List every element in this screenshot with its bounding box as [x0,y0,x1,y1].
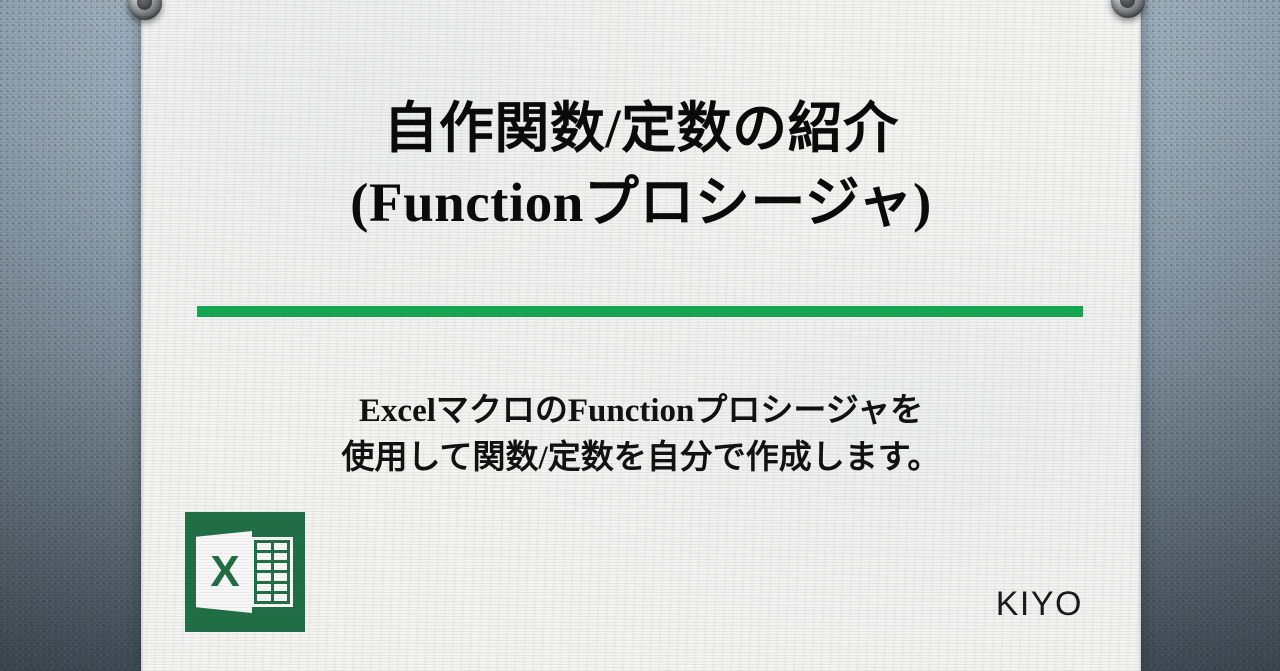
excel-grid-cell [257,553,271,560]
slide-canvas: 自作関数/定数の紹介 (Functionプロシージャ) ExcelマクロのFun… [0,0,1280,671]
author-name: KIYO [996,585,1083,624]
excel-grid-cell [257,563,271,570]
excel-grid-cell [257,573,271,580]
excel-grid-cell [274,594,288,601]
excel-grid-cell [274,543,288,550]
slide-card: 自作関数/定数の紹介 (Functionプロシージャ) ExcelマクロのFun… [141,0,1141,671]
slide-title-line-2: (Functionプロシージャ) [141,166,1141,240]
slide-title: 自作関数/定数の紹介 (Functionプロシージャ) [141,92,1141,240]
slide-title-line-1: 自作関数/定数の紹介 [141,92,1141,166]
excel-grid-cell [274,584,288,591]
excel-grid-cell [274,573,288,580]
excel-grid-cell [274,553,288,560]
excel-grid-cell [257,594,271,601]
excel-grid-cell [257,584,271,591]
excel-grid-shape [251,537,293,607]
slide-subtitle-line-1: ExcelマクロのFunctionプロシージャを [141,388,1141,435]
excel-grid-cell [274,563,288,570]
slide-subtitle: ExcelマクロのFunctionプロシージャを 使用して関数/定数を自分で作成… [141,388,1141,482]
slide-subtitle-line-2: 使用して関数/定数を自分で作成します。 [141,435,1141,482]
excel-letter-x: X [196,531,252,613]
green-divider [197,306,1083,317]
excel-icon: X [185,512,305,632]
excel-grid-cell [257,543,271,550]
